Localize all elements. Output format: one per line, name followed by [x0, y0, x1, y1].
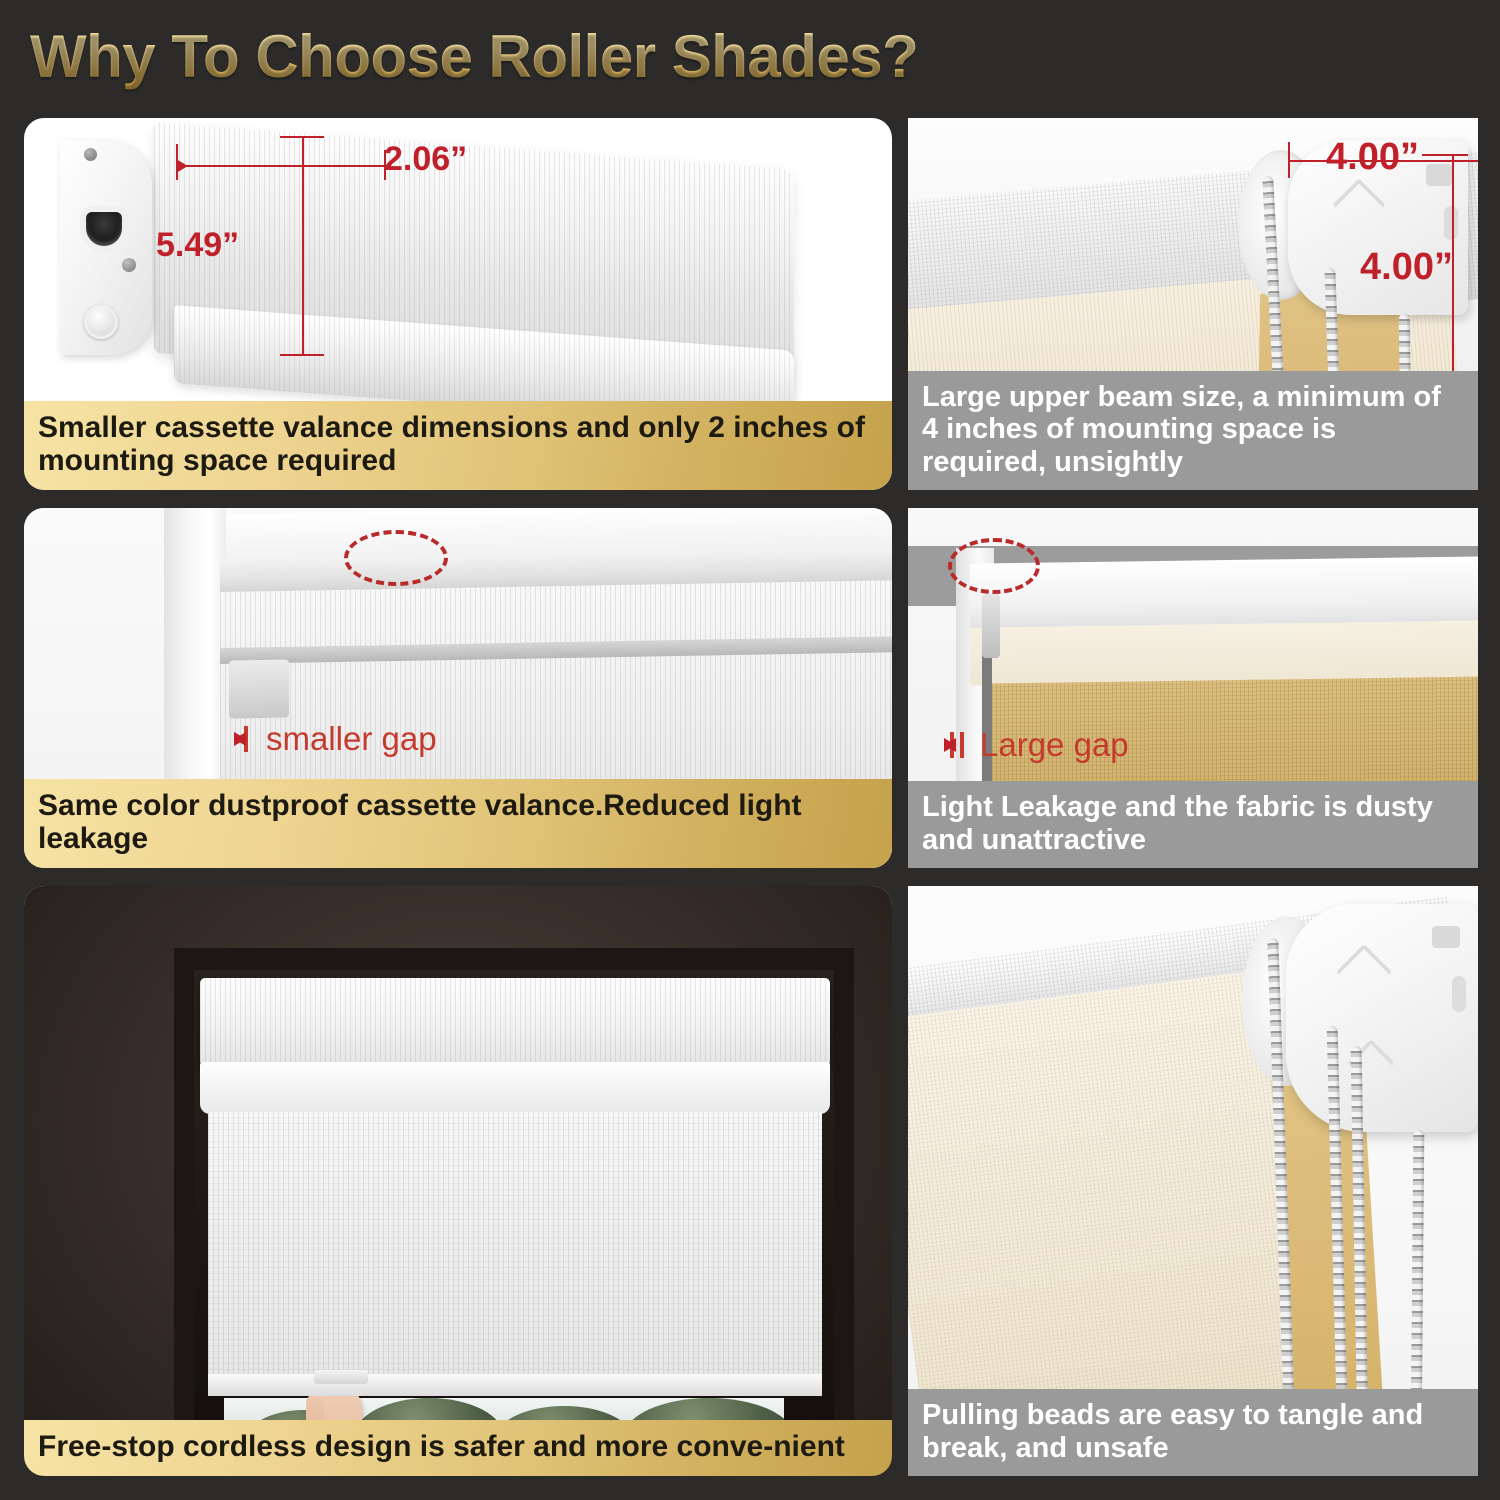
highlight-ellipse — [948, 538, 1040, 594]
chain-slot — [86, 212, 122, 246]
beam-height-dimension-label: 4.00” — [1360, 246, 1453, 289]
shade-fabric-cream — [970, 620, 1478, 685]
height-dimension-label: 5.49” — [156, 226, 239, 265]
panel-pulling-beads: Pulling beads are easy to tangle and bre… — [908, 886, 1478, 1476]
beam-width-dimension-label: 4.00” — [1326, 136, 1419, 179]
screw-icon — [84, 148, 97, 161]
width-dimension-label: 2.06” — [384, 140, 467, 179]
valance-lip — [200, 1062, 830, 1114]
product-photo-room-scene — [24, 886, 892, 1476]
shade-fabric — [208, 1112, 822, 1382]
gap-label: smaller gap — [266, 720, 437, 758]
light-gap — [982, 636, 992, 788]
bracket-arrow-icon — [1332, 178, 1386, 232]
screw-icon — [122, 258, 136, 272]
highlight-ellipse — [344, 530, 448, 586]
cassette-valance — [200, 978, 830, 1066]
panel-caption: Smaller cassette valance dimensions and … — [24, 401, 892, 490]
smaller-gap-annotation: smaller gap — [234, 720, 437, 758]
mounting-bracket — [1286, 904, 1478, 1132]
panel-caption: Pulling beads are easy to tangle and bre… — [908, 1389, 1478, 1476]
product-photo-bead-chain — [908, 886, 1478, 1476]
panel-caption: Free-stop cordless design is safer and m… — [24, 1420, 892, 1476]
side-channel-bar — [229, 659, 289, 718]
bracket-notch — [1432, 926, 1460, 948]
panel-smaller-cassette: 2.06” 5.49” Smaller cassette valance dim… — [24, 118, 892, 490]
panel-smaller-gap: smaller gap Same color dustproof cassett… — [24, 508, 892, 868]
gap-label: Large gap — [980, 726, 1129, 764]
valance-end-cap — [60, 140, 152, 355]
comparison-grid: 2.06” 5.49” Smaller cassette valance dim… — [0, 0, 1500, 1500]
bracket-arrow-icon — [1336, 944, 1393, 1001]
bracket-slot — [1452, 976, 1466, 1012]
panel-caption: Same color dustproof cassette valance.Re… — [24, 779, 892, 868]
panel-cordless-design: Free-stop cordless design is safer and m… — [24, 886, 892, 1476]
height-dimension-line — [294, 136, 314, 356]
shade-bottom-bar — [208, 1374, 822, 1396]
shade-clip — [982, 594, 1000, 658]
gap-marker — [960, 732, 964, 758]
large-gap-annotation: Large gap — [944, 726, 1129, 764]
width-dimension-line — [176, 154, 396, 178]
panel-large-gap: Large gap Light Leakage and the fabric i… — [908, 508, 1478, 868]
arrow-left-icon — [234, 732, 246, 746]
shade-fabric — [220, 580, 892, 802]
panel-large-upper-beam: 4.00” 4.00” Large upper beam size, a min… — [908, 118, 1478, 490]
arrow-left-icon — [944, 738, 956, 752]
pull-tab — [314, 1370, 368, 1384]
panel-caption: Light Leakage and the fabric is dusty an… — [908, 781, 1478, 868]
panel-caption: Large upper beam size, a minimum of 4 in… — [908, 371, 1478, 490]
mounting-knob — [84, 305, 118, 339]
